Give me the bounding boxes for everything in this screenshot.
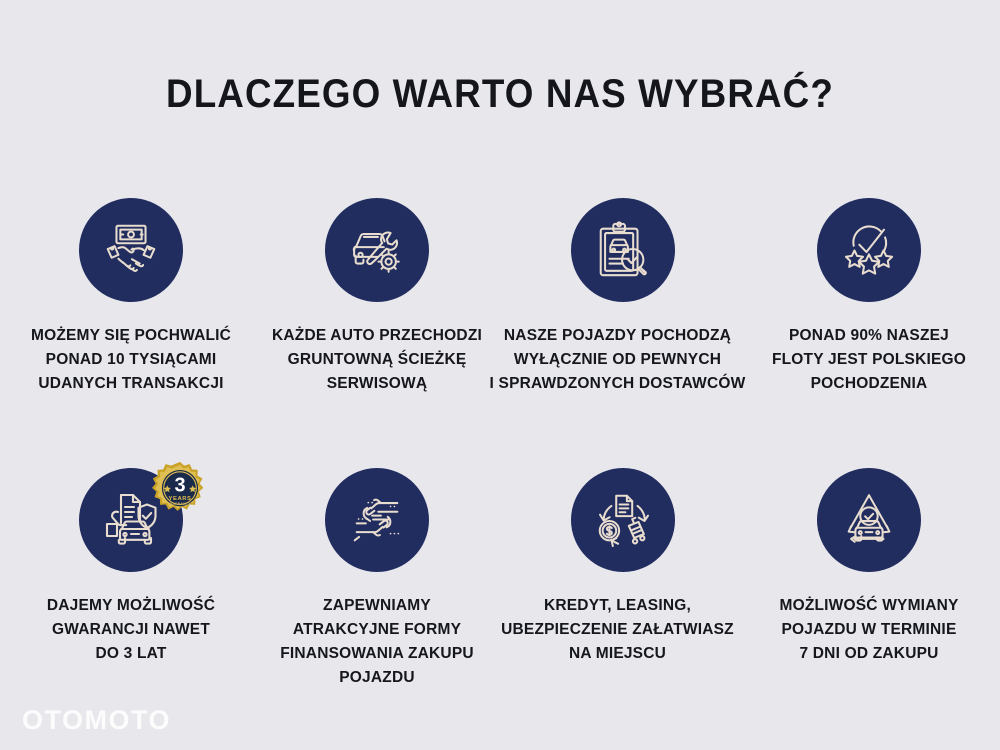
feature-caption-7: KREDYT, LEASING, UBEZPIECZENIE ZAŁATWIAS… [484,594,752,666]
handshake-money-icon [100,219,162,281]
badge-sublabel: WARRANTY [169,502,191,506]
features-row-1: MOŻEMY SIĘ POCHWALIĆ PONAD 10 TYSIĄCAMI … [8,198,992,396]
icon-circle-3 [571,198,675,302]
promo-banner: DLACZEGO WARTO NAS WYBRAĆ? [0,0,1000,750]
icon-wrap-6 [325,468,429,572]
feature-card-4: PONAD 90% NASZEJ FLOTY JEST POLSKIEGO PO… [746,198,992,396]
car-exchange-arrows-check-icon [838,489,900,551]
feature-card-1: MOŻEMY SIĘ POCHWALIĆ PONAD 10 TYSIĄCAMI … [8,198,254,396]
feature-card-2: KAŻDE AUTO PRZECHODZI GRUNTOWNĄ ŚCIEŻKĘ … [254,198,500,396]
icon-wrap-4 [817,198,921,302]
icon-wrap-1 [79,198,183,302]
feature-caption-6: ZAPEWNIAMY ATRAKCYJNE FORMY FINANSOWANIA… [254,594,500,690]
hands-exchange-money-keys-icon [346,489,408,551]
icon-circle-6 [325,468,429,572]
feature-card-7: KREDYT, LEASING, UBEZPIECZENIE ZAŁATWIAS… [500,468,746,690]
feature-caption-5: DAJEMY MOŻLIWOŚĆ GWARANCJI NAWET DO 3 LA… [8,594,254,666]
feature-caption-1: MOŻEMY SIĘ POCHWALIĆ PONAD 10 TYSIĄCAMI … [8,324,254,396]
icon-circle-2 [325,198,429,302]
icon-circle-4 [817,198,921,302]
icon-circle-7 [571,468,675,572]
feature-card-3: NASZE POJAZDY POCHODZĄ WYŁĄCZNIE OD PEWN… [500,198,746,396]
checkmark-stars-rating-icon [838,219,900,281]
feature-caption-3: NASZE POJAZDY POCHODZĄ WYŁĄCZNIE OD PEWN… [484,324,752,396]
warranty-3-years-badge: 3 YEARS WARRANTY [151,460,209,518]
feature-card-8: MOŻLIWOŚĆ WYMIANY POJAZDU W TERMINIE 7 D… [746,468,992,690]
feature-caption-4: PONAD 90% NASZEJ FLOTY JEST POLSKIEGO PO… [746,324,992,396]
feature-caption-8: MOŻLIWOŚĆ WYMIANY POJAZDU W TERMINIE 7 D… [746,594,992,666]
icon-wrap-5: 3 YEARS WARRANTY [79,468,183,572]
car-service-wrench-gear-icon [346,219,408,281]
icon-wrap-7 [571,468,675,572]
feature-card-6: ZAPEWNIAMY ATRAKCYJNE FORMY FINANSOWANIA… [254,468,500,690]
clipboard-car-inspection-magnifier-icon [592,219,654,281]
icon-circle-1 [79,198,183,302]
feature-card-5: 3 YEARS WARRANTY DAJEMY MOŻLIWOŚĆ GWARAN… [8,468,254,690]
feature-caption-2: KAŻDE AUTO PRZECHODZI GRUNTOWNĄ ŚCIEŻKĘ … [254,324,500,396]
icon-wrap-8 [817,468,921,572]
otomoto-watermark: OTOMOTO [22,705,171,736]
features-row-2: 3 YEARS WARRANTY DAJEMY MOŻLIWOŚĆ GWARAN… [8,468,992,690]
features-grid: MOŻEMY SIĘ POCHWALIĆ PONAD 10 TYSIĄCAMI … [8,198,992,690]
finance-cycle-document-cart-coin-icon [592,489,654,551]
icon-wrap-2 [325,198,429,302]
icon-wrap-3 [571,198,675,302]
icon-circle-8 [817,468,921,572]
badge-number: 3 [174,475,185,497]
page-title: DLACZEGO WARTO NAS WYBRAĆ? [40,72,960,117]
